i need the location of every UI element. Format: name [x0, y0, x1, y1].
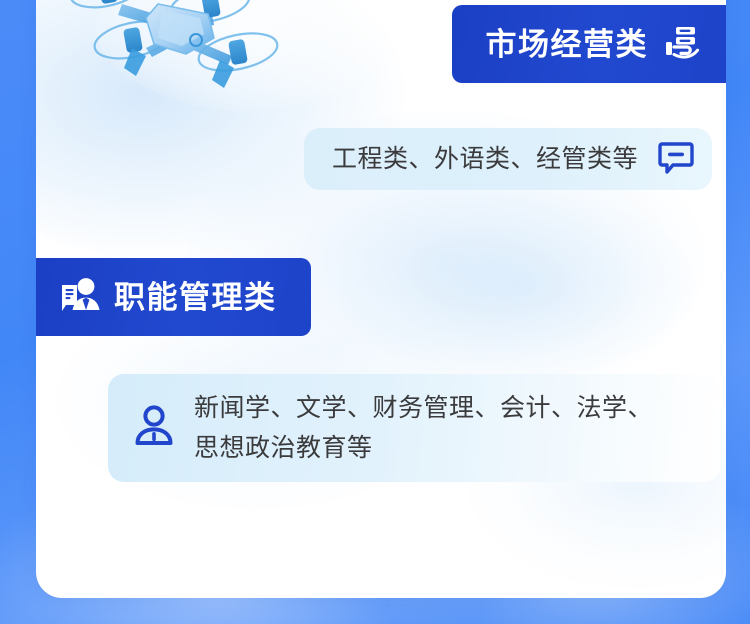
user-person-icon — [132, 402, 176, 455]
drone-illustration — [62, 0, 292, 102]
category-banner-function-label: 职能管理类 — [114, 282, 277, 313]
cloud-decoration — [336, 190, 696, 380]
page-background: 市场经营类 工程类、外语类、经管类等 — [0, 0, 750, 624]
detail-pill-function-text: 新闻学、文学、财务管理、会计、法学、 思想政治教育等 — [194, 388, 653, 468]
category-banner-market-label: 市场经营类 — [486, 29, 649, 60]
category-banner-market[interactable]: 市场经营类 — [452, 5, 727, 83]
chat-bubble-icon — [656, 137, 696, 182]
detail-pill-function: 新闻学、文学、财务管理、会计、法学、 思想政治教育等 — [108, 374, 720, 482]
detail-pill-market-text: 工程类、外语类、经管类等 — [332, 139, 638, 179]
manager-profile-icon — [58, 273, 102, 322]
category-banner-function[interactable]: 职能管理类 — [36, 258, 311, 336]
content-card: 市场经营类 工程类、外语类、经管类等 — [36, 0, 726, 598]
detail-pill-market: 工程类、外语类、经管类等 — [304, 128, 712, 190]
hand-holding-cards-icon — [662, 21, 704, 68]
